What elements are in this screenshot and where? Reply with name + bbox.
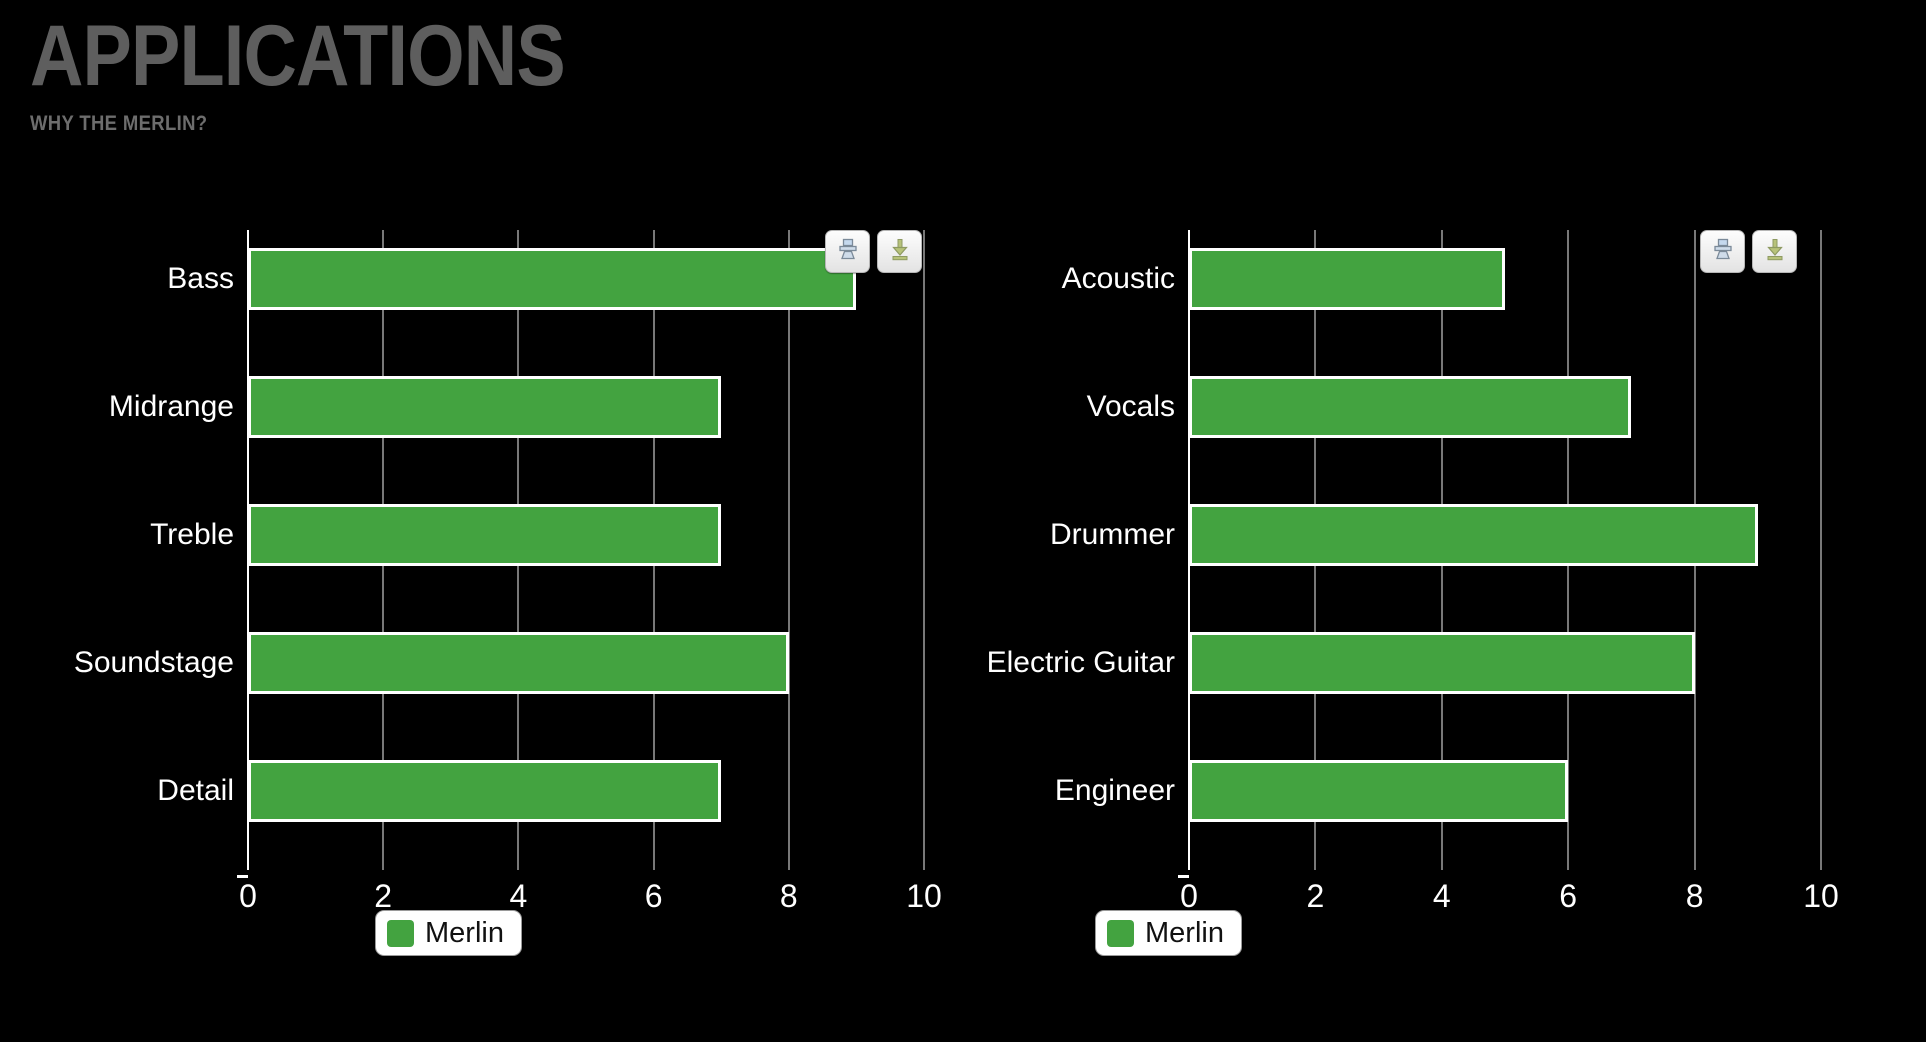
gridline-10 [923, 230, 925, 870]
legend-swatch-merlin [1107, 920, 1134, 947]
category-label: Treble [150, 504, 234, 566]
x-tick-label-10: 10 [1803, 878, 1839, 915]
bar-detail[interactable] [248, 760, 721, 822]
print-icon [1710, 236, 1736, 267]
bar-treble[interactable] [248, 504, 721, 566]
download-button[interactable] [877, 230, 922, 273]
legend-swatch-merlin [387, 920, 414, 947]
category-label: Acoustic [1062, 248, 1175, 310]
bar-electric-guitar[interactable] [1189, 632, 1695, 694]
bar-midrange[interactable] [248, 376, 721, 438]
category-label: Detail [157, 760, 234, 822]
chart-user-types: AcousticVocalsDrummerElectric GuitarEngi… [985, 230, 1915, 930]
plot-area-right: AcousticVocalsDrummerElectric GuitarEngi… [985, 230, 1915, 870]
grid-area-left: BassMidrangeTrebleSoundstageDetail [20, 230, 964, 870]
x-tick-label-4: 4 [1433, 878, 1451, 915]
bar-row: Vocals [1189, 376, 1631, 438]
gridline-10 [1820, 230, 1822, 870]
download-icon [887, 236, 913, 267]
bar-row: Treble [248, 504, 721, 566]
bar-row: Drummer [1189, 504, 1758, 566]
category-label: Bass [167, 248, 234, 310]
x-tick-label-0: 0 [239, 878, 257, 915]
bar-row: Acoustic [1189, 248, 1505, 310]
bar-row: Bass [248, 248, 856, 310]
bar-row: Engineer [1189, 760, 1568, 822]
gridline-8 [788, 230, 790, 870]
print-icon [835, 236, 861, 267]
legend-label-merlin: Merlin [1145, 918, 1224, 948]
chart-legend-left[interactable]: Merlin [375, 910, 522, 956]
bar-row: Electric Guitar [1189, 632, 1695, 694]
chart-legend-right[interactable]: Merlin [1095, 910, 1242, 956]
print-button[interactable] [1700, 230, 1745, 273]
category-label: Engineer [1055, 760, 1175, 822]
x-tick-label-10: 10 [906, 878, 942, 915]
x-tick-label-6: 6 [645, 878, 663, 915]
bar-row: Detail [248, 760, 721, 822]
slide-header: APPLICATIONS WHY THE MERLIN? [30, 8, 652, 136]
download-button[interactable] [1752, 230, 1797, 273]
page-title: APPLICATIONS [30, 8, 565, 104]
x-tick-label-8: 8 [1686, 878, 1704, 915]
legend-label-merlin: Merlin [425, 918, 504, 948]
x-tick-label-6: 6 [1559, 878, 1577, 915]
x-tick-label-8: 8 [780, 878, 798, 915]
chart-toolbar-left [825, 230, 922, 273]
category-label: Drummer [1050, 504, 1175, 566]
plot-area-left: BassMidrangeTrebleSoundstageDetail [20, 230, 950, 870]
category-label: Electric Guitar [987, 632, 1175, 694]
bar-soundstage[interactable] [248, 632, 789, 694]
bar-engineer[interactable] [1189, 760, 1568, 822]
page-subtitle: WHY THE MERLIN? [30, 112, 577, 136]
bar-drummer[interactable] [1189, 504, 1758, 566]
print-button[interactable] [825, 230, 870, 273]
category-label: Vocals [1087, 376, 1175, 438]
category-label: Soundstage [74, 632, 234, 694]
bar-vocals[interactable] [1189, 376, 1631, 438]
slide-root: APPLICATIONS WHY THE MERLIN? BassMidrang… [0, 0, 1926, 1042]
bar-row: Soundstage [248, 632, 789, 694]
chart-sound-qualities: BassMidrangeTrebleSoundstageDetail [20, 230, 950, 930]
category-label: Midrange [109, 376, 234, 438]
bar-bass[interactable] [248, 248, 856, 310]
bar-row: Midrange [248, 376, 721, 438]
download-icon [1762, 236, 1788, 267]
bar-acoustic[interactable] [1189, 248, 1505, 310]
grid-area-right: AcousticVocalsDrummerElectric GuitarEngi… [985, 230, 1861, 870]
chart-toolbar-right [1700, 230, 1797, 273]
x-tick-label-2: 2 [1306, 878, 1324, 915]
